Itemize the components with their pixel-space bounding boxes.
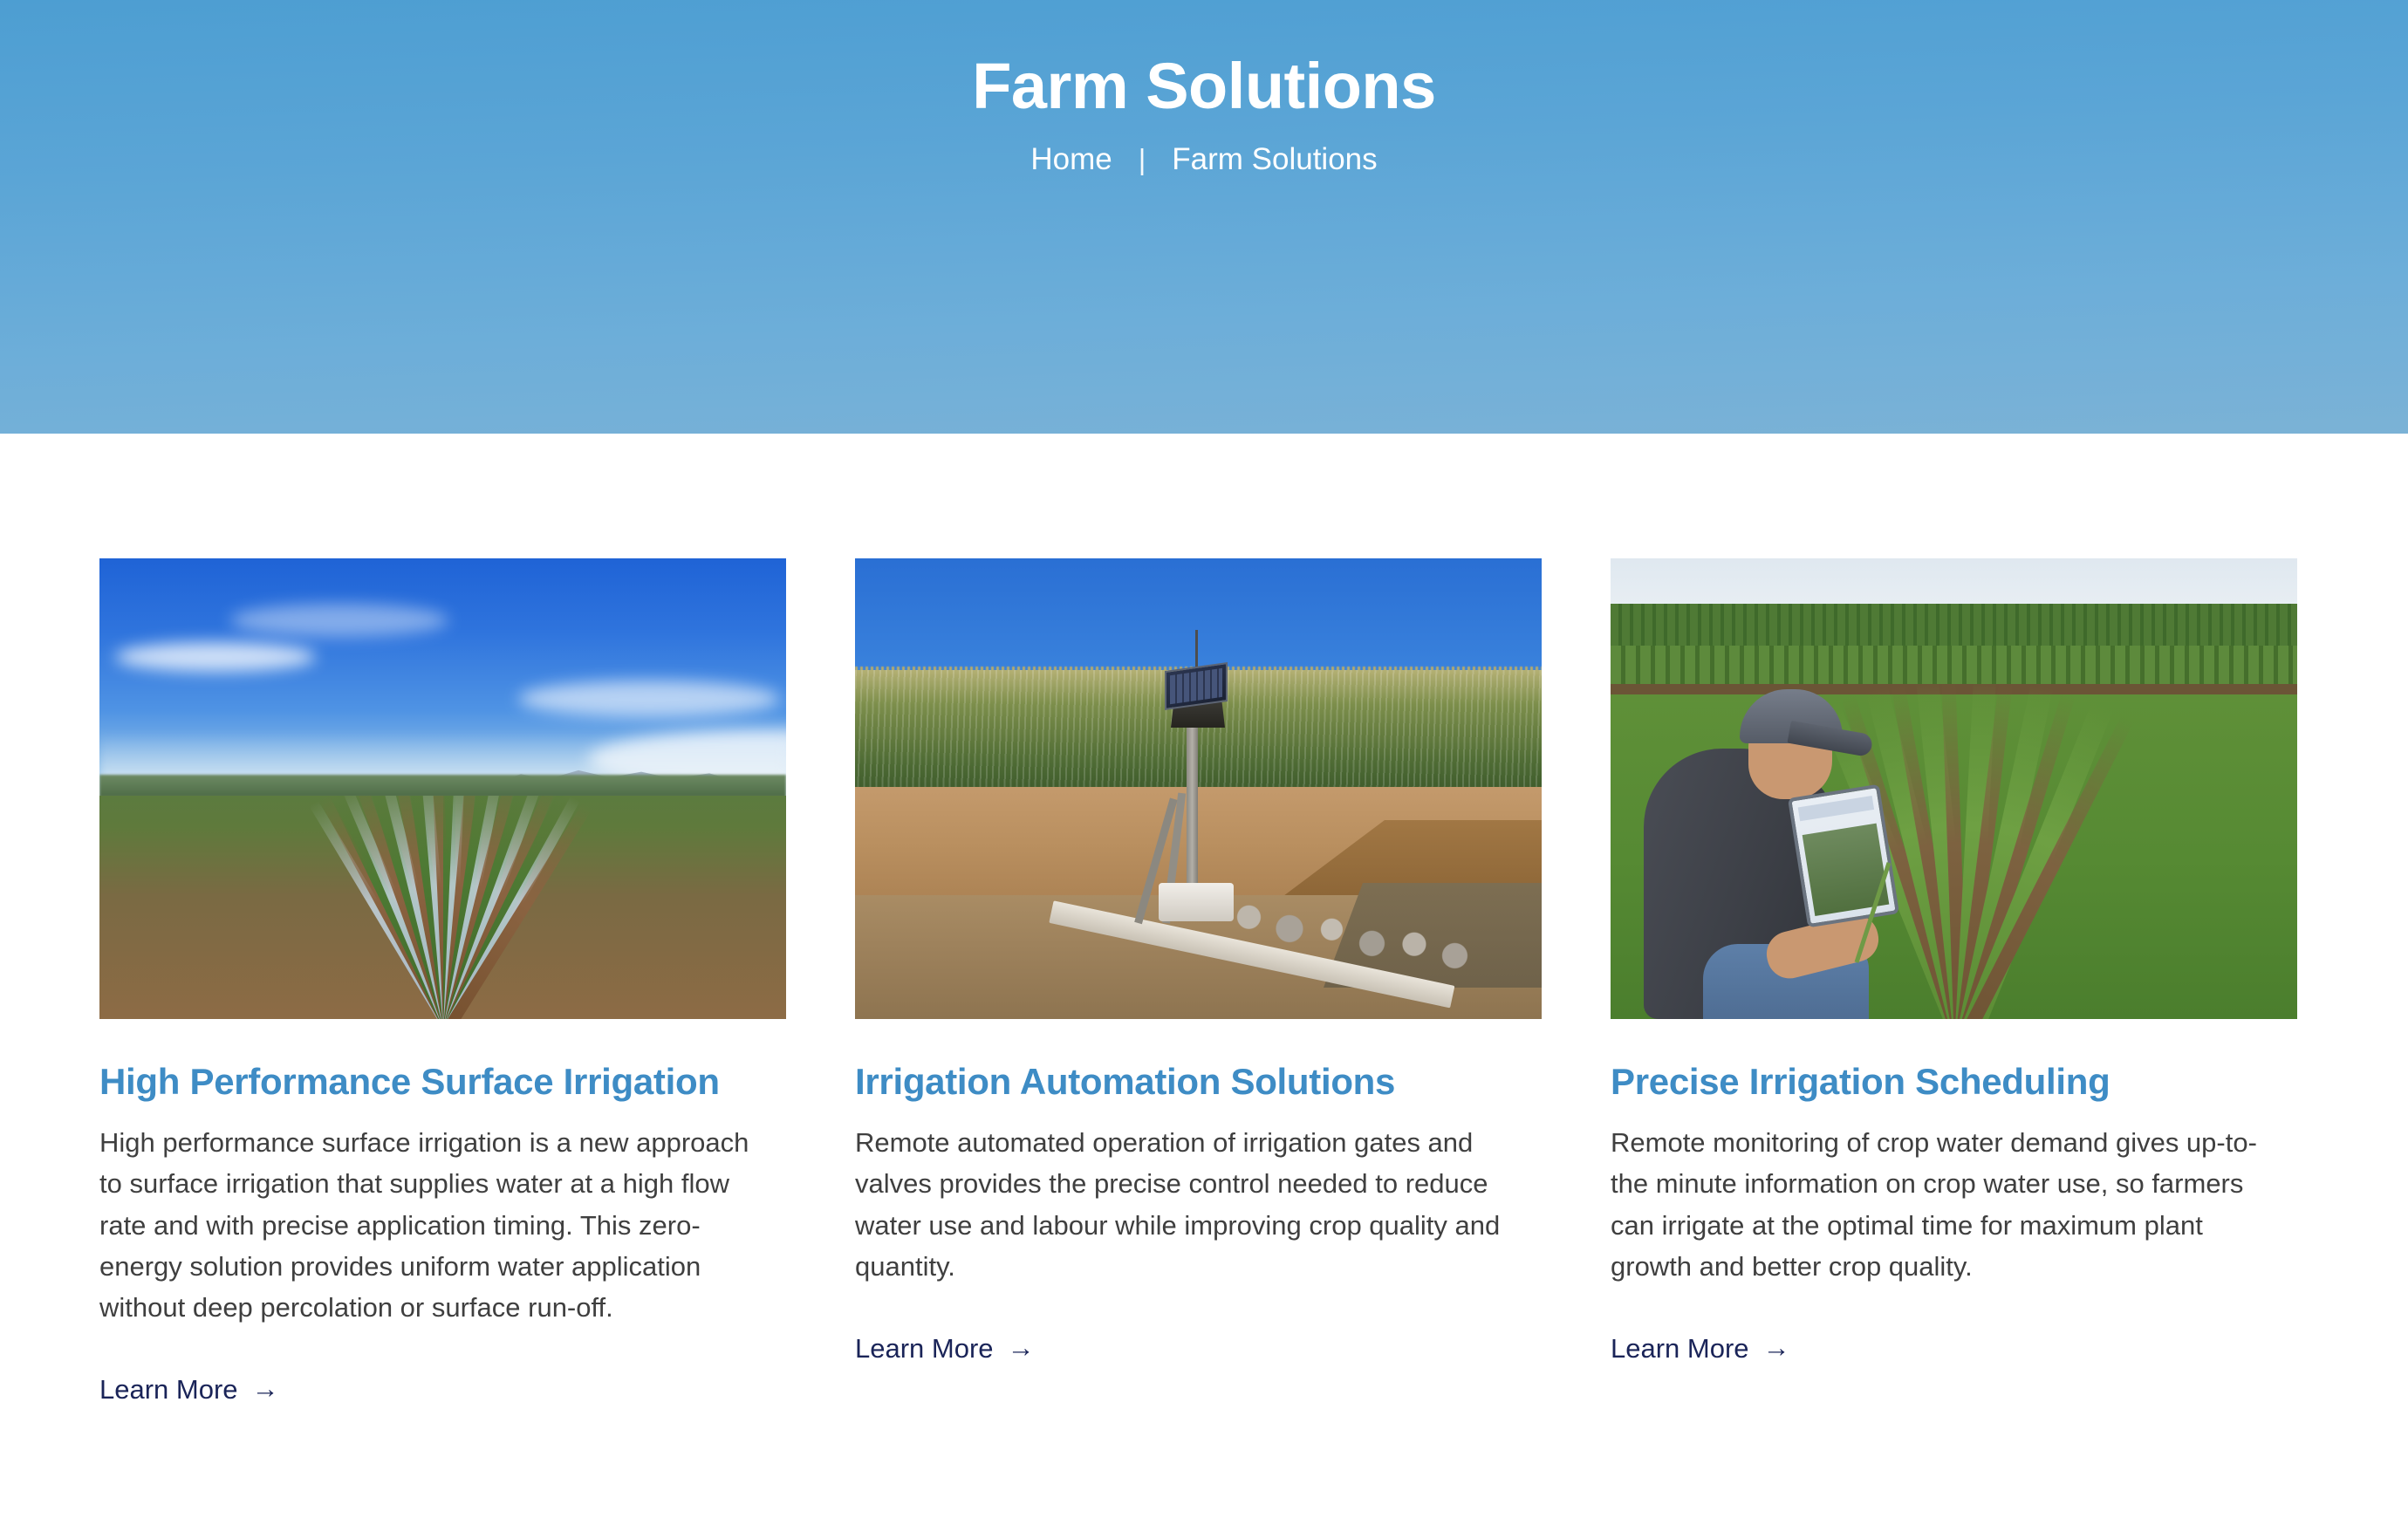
solution-card: High Performance Surface Irrigation High… <box>99 558 786 1406</box>
arrow-right-icon: → <box>1763 1334 1790 1361</box>
card-image-surface-irrigation[interactable] <box>99 558 786 1019</box>
breadcrumb-current-page: Farm Solutions <box>1172 141 1377 178</box>
learn-more-link[interactable]: Learn More → <box>1611 1332 2297 1365</box>
page-hero-banner: Farm Solutions Home | Farm Solutions <box>0 0 2408 434</box>
sky <box>1611 558 2297 607</box>
learn-more-link[interactable]: Learn More → <box>99 1373 786 1406</box>
gate-actuator <box>1159 883 1234 921</box>
page-title: Farm Solutions <box>0 54 2408 119</box>
cloud-shape <box>115 642 316 672</box>
breadcrumb-separator: | <box>1112 142 1173 177</box>
treeline <box>99 775 786 797</box>
card-title: Precise Irrigation Scheduling <box>1611 1061 2297 1103</box>
card-image-irrigation-scheduling[interactable] <box>1611 558 2297 1019</box>
cloud-shape <box>230 604 448 637</box>
solution-card: Irrigation Automation Solutions Remote a… <box>855 558 1542 1365</box>
learn-more-label: Learn More <box>1611 1332 1749 1365</box>
card-description: High performance surface irrigation is a… <box>99 1122 771 1328</box>
learn-more-link[interactable]: Learn More → <box>855 1332 1542 1365</box>
card-description: Remote automated operation of irrigation… <box>855 1122 1527 1286</box>
main-content: High Performance Surface Irrigation High… <box>0 434 2408 1406</box>
card-title: Irrigation Automation Solutions <box>855 1061 1542 1103</box>
hero-inner: Farm Solutions Home | Farm Solutions <box>0 0 2408 178</box>
solution-card: Precise Irrigation Scheduling Remote mon… <box>1611 558 2297 1365</box>
learn-more-label: Learn More <box>99 1373 238 1406</box>
crop-rows-group <box>99 796 786 1019</box>
card-title: High Performance Surface Irrigation <box>99 1061 786 1103</box>
card-image-irrigation-automation[interactable] <box>855 558 1542 1019</box>
breadcrumb: Home | Farm Solutions <box>0 141 2408 178</box>
agronomist-figure <box>1635 670 1914 1019</box>
far-crop-field <box>1611 604 2297 649</box>
cloud-shape <box>518 681 780 717</box>
solution-card-grid: High Performance Surface Irrigation High… <box>0 434 2408 1406</box>
tablet-device <box>1788 784 1899 928</box>
antenna <box>1195 630 1198 670</box>
arrow-right-icon: → <box>1008 1334 1035 1361</box>
learn-more-label: Learn More <box>855 1332 994 1365</box>
breadcrumb-link-home[interactable]: Home <box>1030 141 1112 178</box>
arrow-right-icon: → <box>252 1375 279 1402</box>
card-description: Remote monitoring of crop water demand g… <box>1611 1122 2282 1286</box>
